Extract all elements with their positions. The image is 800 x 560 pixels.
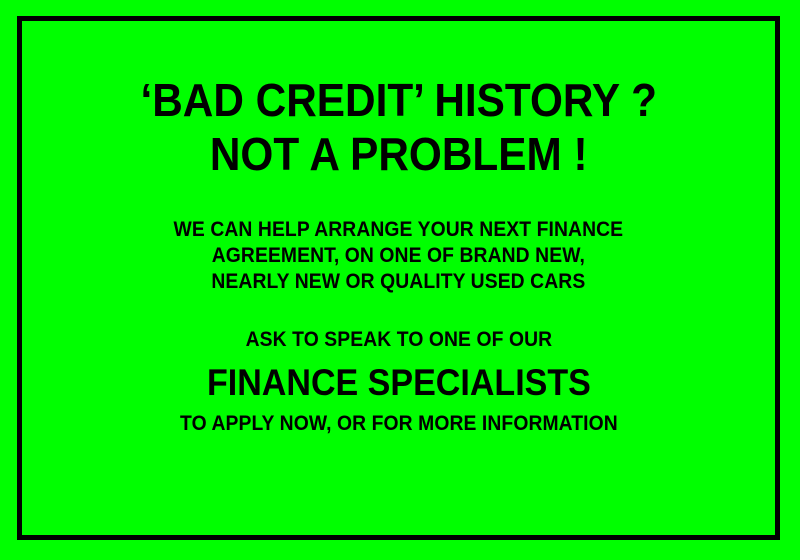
headline-line-2: NOT A PROBLEM !	[140, 127, 657, 181]
body-line-1: WE CAN HELP ARRANGE YOUR NEXT FINANCE	[174, 217, 624, 243]
cta-headline-text: FINANCE SPECIALISTS	[180, 360, 618, 406]
body-line-3: NEARLY NEW OR QUALITY USED CARS	[174, 269, 624, 295]
body-paragraph: WE CAN HELP ARRANGE YOUR NEXT FINANCE AG…	[154, 217, 643, 295]
body-line-2: AGREEMENT, ON ONE OF BRAND NEW,	[174, 243, 624, 269]
poster-content: ‘BAD CREDIT’ HISTORY ? NOT A PROBLEM ! W…	[22, 21, 775, 535]
cta-tail-text: TO APPLY NOW, OR FOR MORE INFORMATION	[180, 411, 618, 437]
poster: ‘BAD CREDIT’ HISTORY ? NOT A PROBLEM ! W…	[0, 0, 800, 560]
headline-line-1: ‘BAD CREDIT’ HISTORY ?	[140, 73, 657, 127]
call-to-action-block: ASK TO SPEAK TO ONE OF OUR FINANCE SPECI…	[161, 327, 637, 437]
cta-lead-text: ASK TO SPEAK TO ONE OF OUR	[180, 327, 618, 353]
headline-block: ‘BAD CREDIT’ HISTORY ? NOT A PROBLEM !	[118, 73, 679, 181]
